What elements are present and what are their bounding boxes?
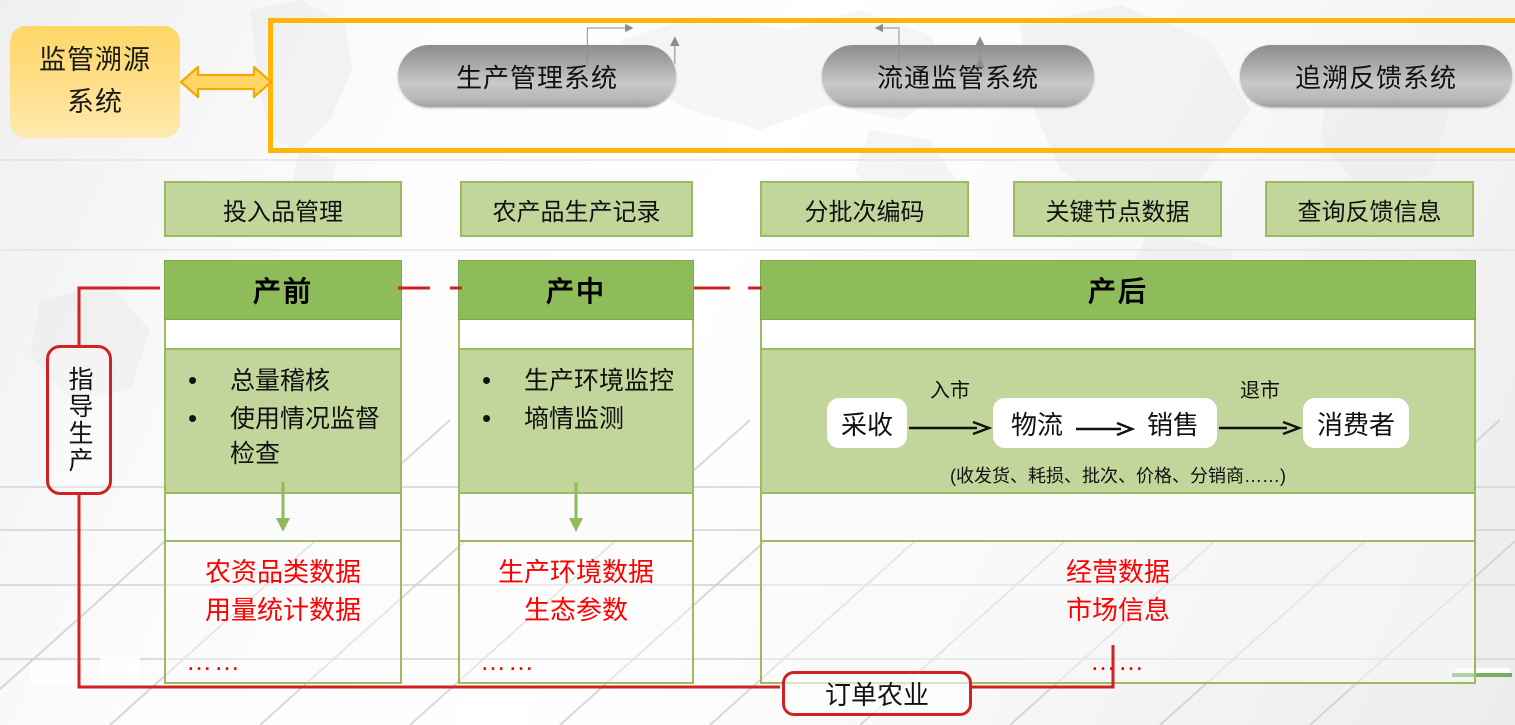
module-box-label: 投入品管理	[223, 192, 343, 227]
supervision-system-line1: 监管溯源	[39, 40, 151, 82]
module-box-key-node-data[interactable]: 关键节点数据	[1013, 181, 1222, 237]
stage-bullet-list: 生产环境监控 墒情监测	[460, 350, 692, 451]
system-pill-circulation-supervision[interactable]: 流通监管系统	[822, 45, 1094, 107]
diagram-canvas: 监管溯源 系统 生产管理系统 流通监管系统 追溯反馈系统	[0, 0, 1515, 725]
stage-output-line: 市场信息	[768, 592, 1468, 630]
down-arrow-icon	[274, 482, 292, 539]
stage-output: 生产环境数据 生态参数 ……	[458, 540, 694, 684]
stage-output-line: 生产环境数据	[466, 554, 686, 592]
stage-body: 生产环境监控 墒情监测	[458, 348, 694, 494]
stage-body: 总量稽核 使用情况监督检查	[164, 348, 402, 494]
stage-panel-pre-production: 产前 总量稽核 使用情况监督检查 农资品类数据 用量统计数据 ……	[164, 260, 402, 684]
module-box-label: 分批次编码	[805, 192, 925, 227]
stage-arrow-zone	[164, 494, 402, 540]
stage-bullet-list: 总量稽核 使用情况监督检查	[166, 350, 400, 487]
stage-arrow-zone	[458, 494, 694, 540]
system-pill-label: 流通监管系统	[877, 58, 1039, 95]
guide-production-label: 指导生产	[65, 366, 93, 474]
system-pill-traceability-feedback[interactable]: 追溯反馈系统	[1240, 45, 1512, 107]
stage-title: 产前	[164, 260, 402, 320]
stage-title: 产后	[760, 260, 1476, 320]
stage-arrow-zone	[760, 494, 1476, 540]
chain-arrow-label: 退市	[1240, 374, 1280, 403]
chain-node-harvest[interactable]: 采收	[827, 398, 907, 448]
stage-body: 采收 入市 物流	[760, 348, 1476, 494]
system-pill-production-management[interactable]: 生产管理系统	[398, 45, 676, 107]
bidirectional-arrow-icon	[180, 62, 272, 102]
module-box-production-record[interactable]: 农产品生产记录	[460, 181, 693, 237]
stage-bullet: 使用情况监督检查	[188, 402, 390, 473]
chain-caption: (收发货、耗损、批次、价格、分销商……)	[762, 462, 1474, 488]
stage-panel-post-production: 产后 采收 入市 物流	[760, 260, 1476, 684]
chain-node-label: 消费者	[1317, 405, 1395, 442]
chain-node-label: 销售	[1147, 405, 1199, 442]
stage-output-line: 农资品类数据	[172, 554, 394, 592]
module-box-label: 查询反馈信息	[1298, 192, 1442, 227]
stage-spacer	[458, 320, 694, 348]
stage-bullet: 总量稽核	[188, 364, 390, 400]
stage-output: 经营数据 市场信息 ……	[760, 540, 1476, 684]
system-pill-label: 生产管理系统	[456, 58, 618, 95]
chain-node-label: 物流	[1011, 405, 1063, 442]
supervision-system-line2: 系统	[67, 82, 123, 124]
stage-output-ellipsis: ……	[466, 643, 686, 681]
stage-output-line: 用量统计数据	[172, 592, 394, 630]
module-box-label: 关键节点数据	[1046, 192, 1190, 227]
supervision-system-card[interactable]: 监管溯源 系统	[10, 26, 180, 138]
stage-spacer	[164, 320, 402, 348]
module-box-batch-coding[interactable]: 分批次编码	[760, 181, 969, 237]
stage-output: 农资品类数据 用量统计数据 ……	[164, 540, 402, 684]
stage-output-ellipsis: ……	[172, 643, 394, 681]
guide-production-box[interactable]: 指导生产	[46, 345, 112, 495]
chain-arrow-label: 入市	[930, 374, 970, 403]
stage-panel-in-production: 产中 生产环境监控 墒情监测 生产环境数据 生态参数 ……	[458, 260, 694, 684]
system-pill-label: 追溯反馈系统	[1295, 58, 1457, 95]
chain-node-consumer[interactable]: 消费者	[1303, 398, 1409, 448]
stage-spacer	[760, 320, 1476, 348]
down-arrow-icon	[567, 482, 585, 539]
module-box-input-management[interactable]: 投入品管理	[164, 181, 402, 237]
chain-node-label: 采收	[841, 405, 893, 442]
stage-bullet: 生产环境监控	[482, 364, 682, 400]
module-box-query-feedback[interactable]: 查询反馈信息	[1265, 181, 1474, 237]
chain-inner-arrow-icon	[1075, 413, 1135, 433]
stage-title: 产中	[458, 260, 694, 320]
supply-chain-flow: 采收 入市 物流	[762, 350, 1474, 492]
order-agriculture-box[interactable]: 订单农业	[782, 671, 972, 716]
chain-node-logistics-sales[interactable]: 物流 销售	[993, 398, 1217, 448]
order-agriculture-label: 订单农业	[825, 675, 929, 712]
chain-arrow-exit-market: 退市	[1217, 398, 1303, 448]
stage-output-line: 生态参数	[466, 592, 686, 630]
stage-output-line: 经营数据	[768, 554, 1468, 592]
module-box-label: 农产品生产记录	[493, 192, 661, 227]
stage-bullet: 墒情监测	[482, 402, 682, 438]
chain-arrow-to-market: 入市	[907, 398, 993, 448]
